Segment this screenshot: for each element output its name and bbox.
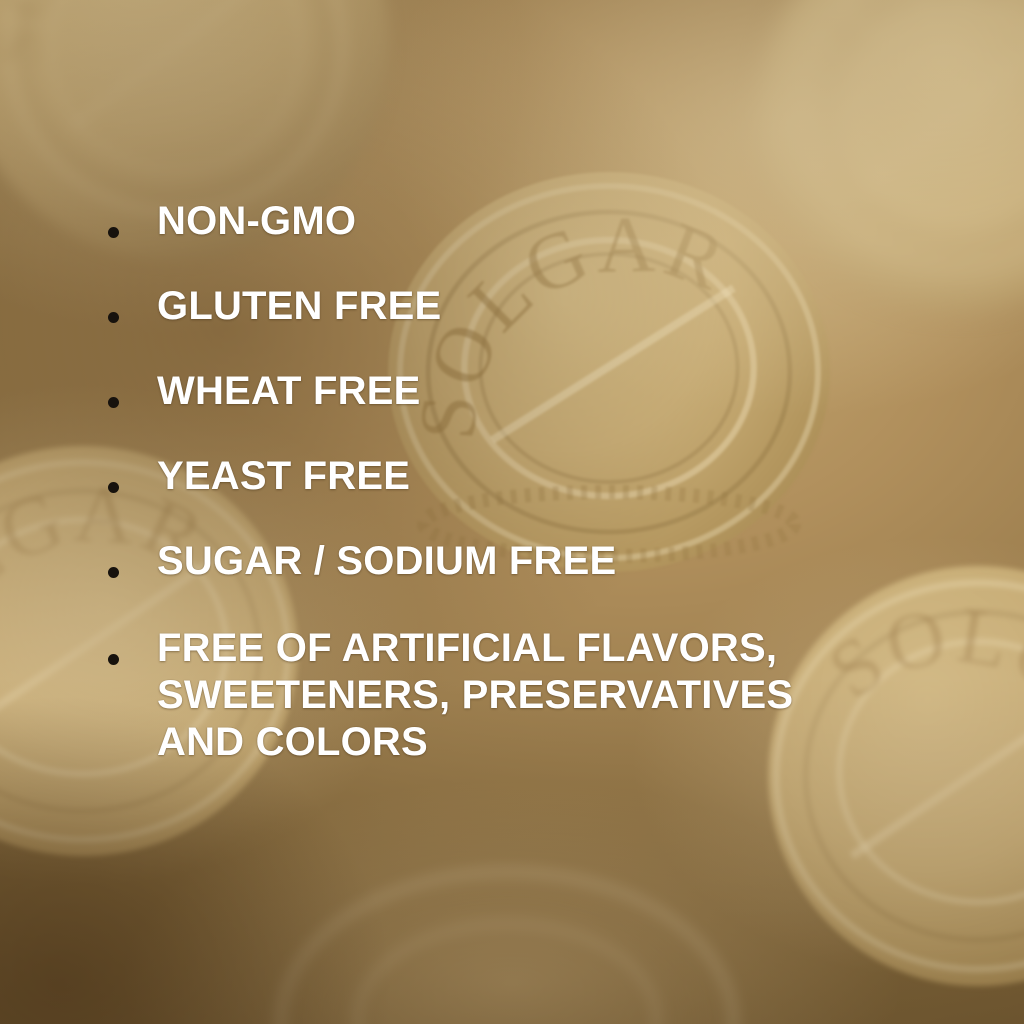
claim-label: GLUTEN FREE — [157, 283, 441, 330]
list-item: SUGAR / SODIUM FREE — [108, 538, 948, 585]
bullet-icon — [108, 397, 119, 408]
list-item: FREE OF ARTIFICIAL FLAVORS, SWEETENERS, … — [108, 625, 948, 766]
list-item: NON-GMO — [108, 198, 948, 245]
bullet-icon — [108, 482, 119, 493]
list-item: GLUTEN FREE — [108, 283, 948, 330]
claim-label: NON-GMO — [157, 198, 356, 245]
bullet-icon — [108, 654, 119, 665]
bullet-icon — [108, 227, 119, 238]
list-item: YEAST FREE — [108, 453, 948, 500]
marketing-graphic: SOLGAR SOLGAR — [0, 0, 1024, 1024]
claim-label: YEAST FREE — [157, 453, 410, 500]
claim-label: SUGAR / SODIUM FREE — [157, 538, 616, 585]
bullet-icon — [108, 567, 119, 578]
bullet-icon — [108, 312, 119, 323]
claim-label: FREE OF ARTIFICIAL FLAVORS, SWEETENERS, … — [157, 625, 793, 766]
claims-list: NON-GMO GLUTEN FREE WHEAT FREE YEAST FRE… — [108, 198, 948, 766]
claim-label: WHEAT FREE — [157, 368, 420, 415]
list-item: WHEAT FREE — [108, 368, 948, 415]
